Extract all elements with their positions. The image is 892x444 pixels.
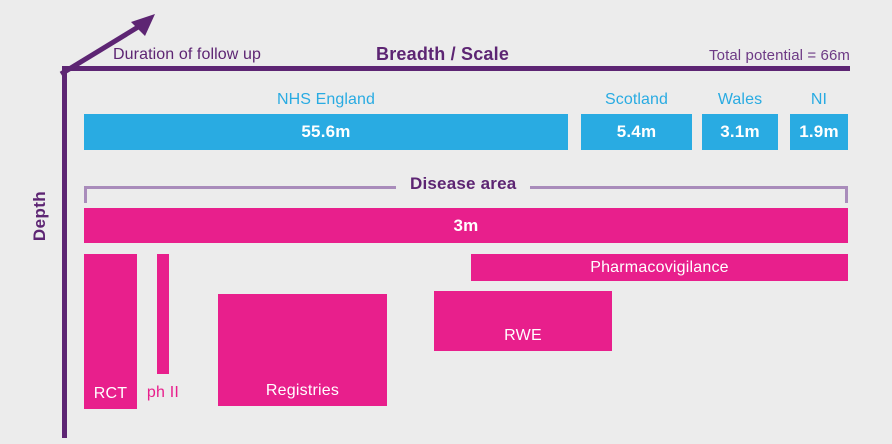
nation-label-wales: Wales bbox=[702, 91, 778, 109]
nation-label-ni: NI bbox=[790, 91, 848, 109]
depth-axis-label: Depth bbox=[30, 171, 50, 261]
block-pharmacovigilance[interactable]: Pharmacovigilance bbox=[471, 254, 848, 281]
block-rct[interactable]: RCT bbox=[84, 254, 137, 409]
nation-label-nhs-england: NHS England bbox=[84, 91, 568, 109]
growth-arrow-icon bbox=[55, 10, 165, 80]
page-title: Breadth / Scale bbox=[376, 44, 509, 65]
disease-area-label: Disease area bbox=[396, 174, 530, 194]
block-rct-label: RCT bbox=[84, 385, 137, 403]
block-rwe-label: RWE bbox=[434, 327, 612, 345]
bar-scotland[interactable]: 5.4m bbox=[581, 114, 692, 150]
bar-nhs-england[interactable]: 55.6m bbox=[84, 114, 568, 150]
breadth-axis-line bbox=[62, 66, 850, 71]
diagram-canvas: Depth Duration of follow up Breadth / Sc… bbox=[0, 0, 892, 444]
block-rwe[interactable]: RWE bbox=[434, 291, 612, 351]
bar-disease-area[interactable]: 3m bbox=[84, 208, 848, 243]
block-registries[interactable]: Registries bbox=[218, 294, 387, 406]
block-registries-label: Registries bbox=[218, 382, 387, 400]
bar-ni[interactable]: 1.9m bbox=[790, 114, 848, 150]
duration-axis-label: Duration of follow up bbox=[113, 46, 261, 64]
nation-label-scotland: Scotland bbox=[581, 91, 692, 109]
total-potential-label: Total potential = 66m bbox=[709, 47, 850, 64]
block-ph-ii[interactable] bbox=[157, 254, 169, 374]
block-ph-ii-label: ph II bbox=[133, 384, 193, 402]
bar-wales[interactable]: 3.1m bbox=[702, 114, 778, 150]
depth-axis-line bbox=[62, 66, 67, 438]
